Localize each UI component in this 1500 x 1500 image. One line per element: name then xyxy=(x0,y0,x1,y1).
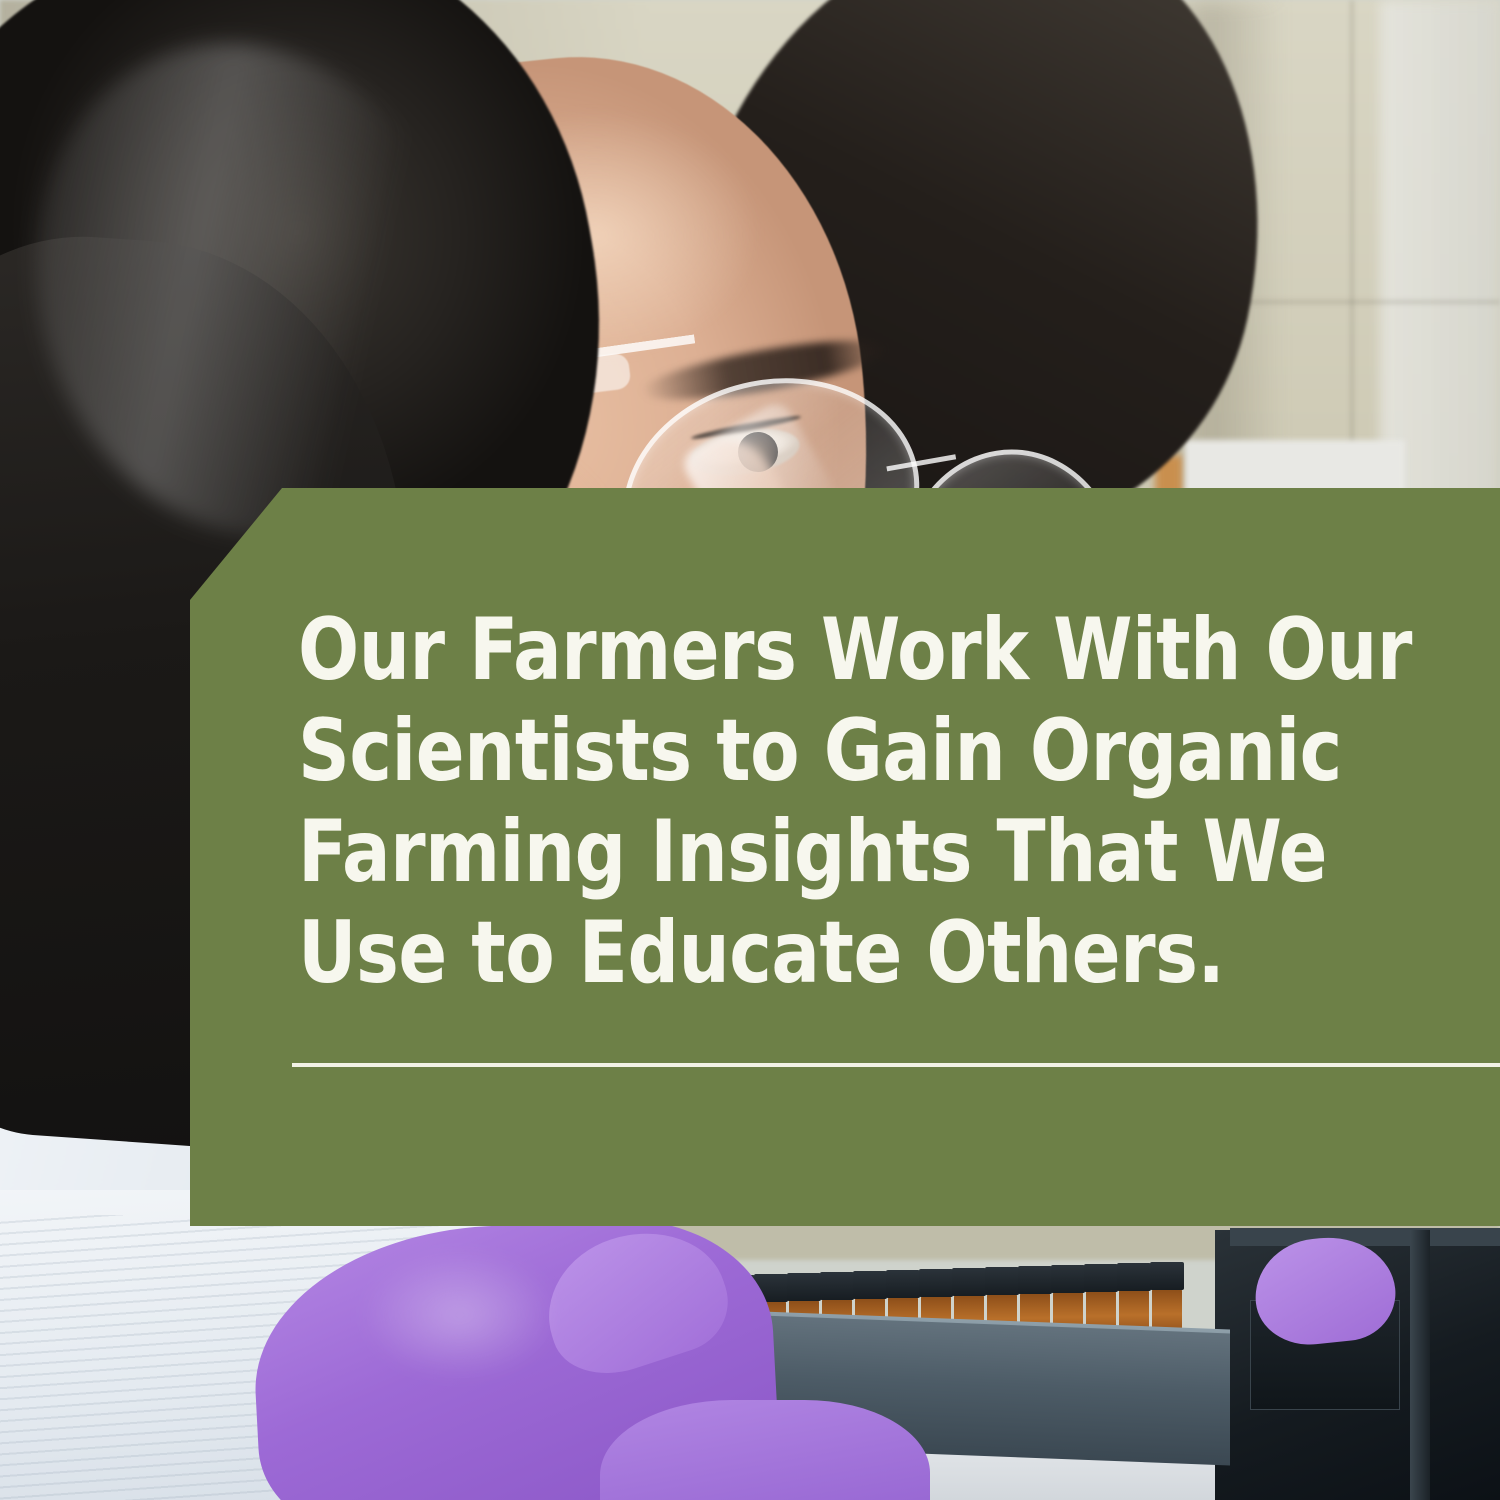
headline-line-1: Our Farmers Work With Our xyxy=(298,600,1377,701)
vial-cap xyxy=(1084,1264,1118,1292)
vial-cap xyxy=(1018,1266,1052,1294)
headline-overlay-panel: Our Farmers Work With Our Scientists to … xyxy=(190,488,1500,1226)
lab-instrument-side-edge xyxy=(1410,1230,1430,1500)
headline-overlay-content: Our Farmers Work With Our Scientists to … xyxy=(190,488,1500,1226)
vial-cap xyxy=(787,1273,821,1301)
promo-image-canvas: Our Farmers Work With Our Scientists to … xyxy=(0,0,1500,1500)
vial-cap xyxy=(886,1270,920,1298)
vial-cap xyxy=(1150,1262,1184,1290)
vial-cap xyxy=(1051,1265,1085,1293)
vial-cap xyxy=(853,1271,887,1299)
page-title: Our Farmers Work With Our Scientists to … xyxy=(298,600,1377,1004)
glove-highlight xyxy=(360,1250,560,1380)
headline-line-2: Scientists to Gain Organic xyxy=(298,701,1377,802)
vial-cap xyxy=(1117,1263,1151,1291)
vial-cap xyxy=(952,1268,986,1296)
lab-instrument-top-edge xyxy=(1230,1228,1500,1246)
vial-cap xyxy=(985,1267,1019,1295)
headline-line-4: Use to Educate Others. xyxy=(298,903,1377,1004)
vial-cap xyxy=(919,1269,953,1297)
headline-divider xyxy=(292,1063,1500,1067)
headline-line-3: Farming Insights That We xyxy=(298,802,1377,903)
vial-cap xyxy=(820,1272,854,1300)
